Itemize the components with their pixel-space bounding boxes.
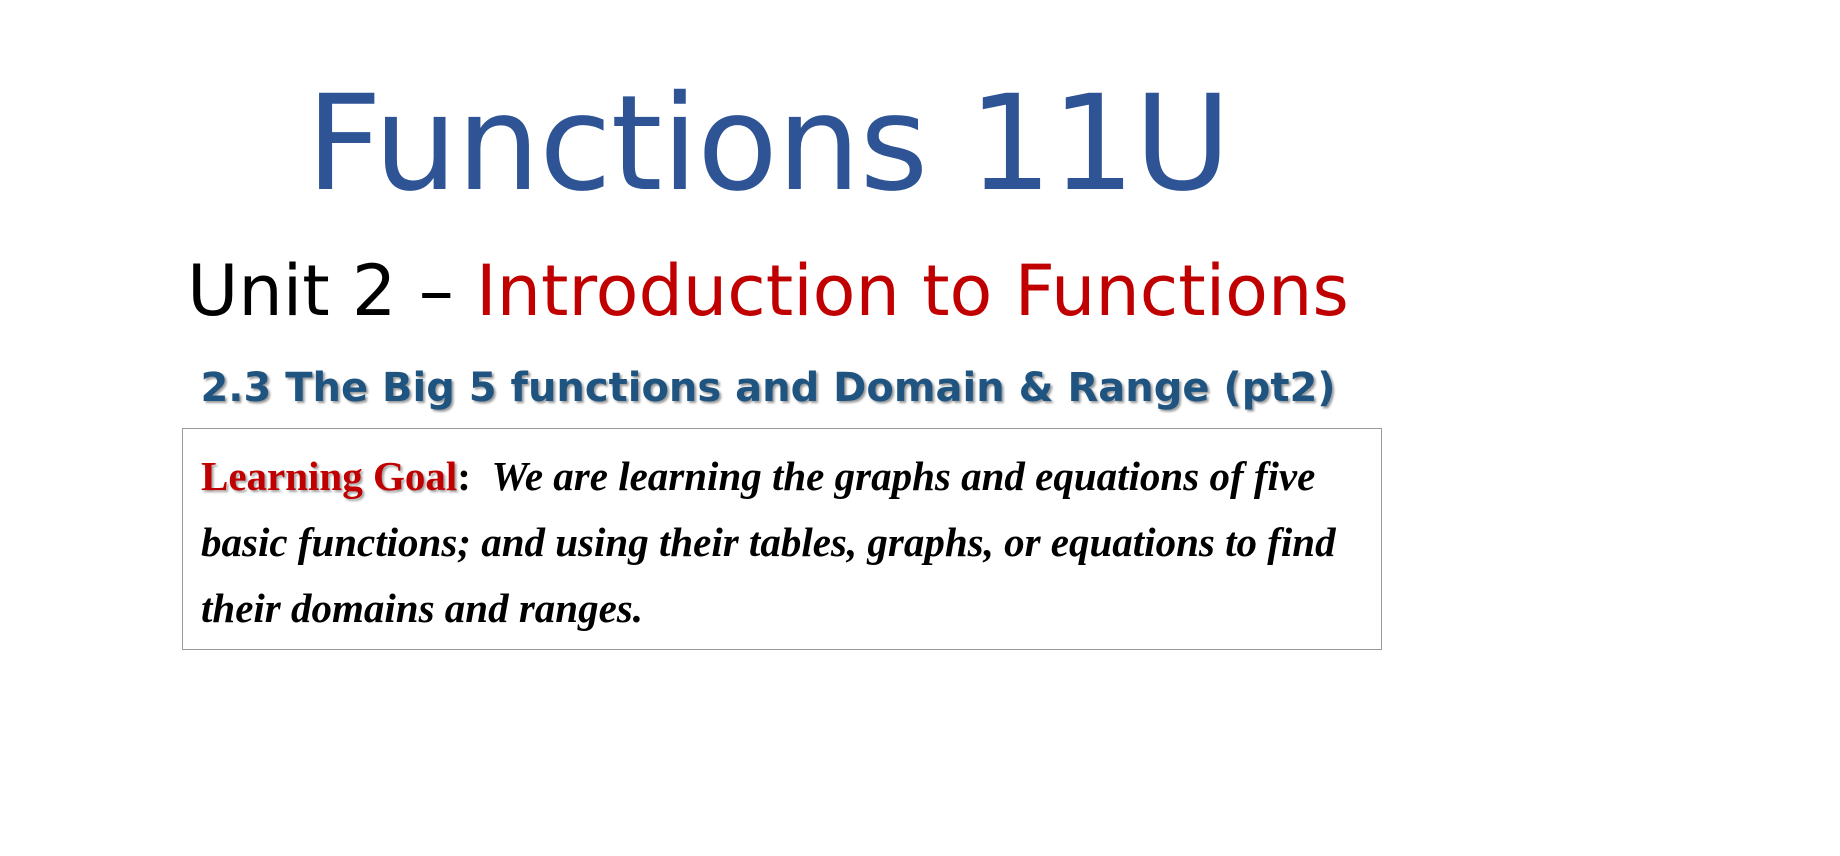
section-heading: 2.3 The Big 5 functions and Domain & Ran…: [0, 368, 1536, 408]
learning-goal-spacer: [471, 453, 492, 499]
page-title: Functions 11U: [0, 78, 1536, 210]
slide-canvas: Functions 11U Unit 2 – Introduction to F…: [0, 0, 1840, 856]
learning-goal-label: Learning Goal: [201, 453, 457, 499]
slide-subtitle: Unit 2 – Introduction to Functions: [0, 256, 1536, 326]
subtitle-unit-label: Unit 2 –: [187, 250, 476, 332]
learning-goal-box: Learning Goal: We are learning the graph…: [182, 428, 1382, 650]
learning-goal-paragraph: Learning Goal: We are learning the graph…: [201, 443, 1365, 641]
learning-goal-colon: :: [457, 453, 471, 499]
subtitle-topic-label: Introduction to Functions: [476, 250, 1349, 332]
